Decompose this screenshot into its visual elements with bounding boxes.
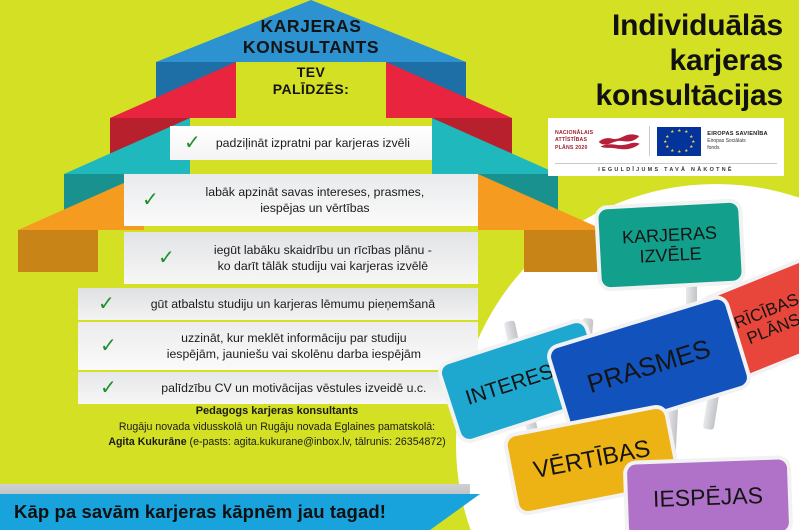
step-text: labāk apzināt savas intereses, prasmes,i… <box>164 184 466 217</box>
contact-person-line: Agita Kukurāne (e-pasts: agita.kukurane@… <box>88 435 466 450</box>
page-title-line-1: Individuālās <box>453 8 783 43</box>
step-panel-4: ✓gūt atbalstu studiju un karjeras lēmumu… <box>78 288 478 320</box>
step-text: iegūt labāku skaidrību un rīcības plānu … <box>180 242 466 275</box>
step-text: padziļināt izpratni par karjeras izvēli <box>206 135 420 151</box>
checkmark-icon: ✓ <box>100 377 117 397</box>
signpost-label: PRASMES <box>584 334 714 399</box>
page-title: Individuālās karjeras konsultācijas <box>453 8 783 113</box>
step-text: uzzināt, kur meklēt informāciju par stud… <box>122 330 466 363</box>
checkmark-icon: ✓ <box>100 335 117 355</box>
logo-footer-slogan: IEGULDĪJUMS TAVĀ NĀKOTNĒ <box>555 163 777 173</box>
poster-canvas: ✓padziļināt izpratni par karjeras izvēli… <box>0 0 799 530</box>
signpost-label: RĪCĪBASPLĀNS <box>731 290 799 351</box>
signpost-label: KARJERASIZVĒLE <box>621 222 718 267</box>
step-panel-3: ✓iegūt labāku skaidrību un rīcības plānu… <box>124 232 478 284</box>
contact-details: (e-pasts: agita.kukurane@inbox.lv, tālru… <box>187 436 446 448</box>
nap-logo: NACIONĀLAISATTĪSTĪBASPLĀNS 2020 <box>555 128 642 154</box>
checkmark-icon: ✓ <box>158 247 175 267</box>
signpost-label: IESPĒJAS <box>653 483 764 513</box>
contact-person-name: Agita Kukurāne <box>108 436 186 448</box>
page-title-line-2: karjeras <box>453 43 783 78</box>
contact-block: Pedagogs karjeras konsultants Rugāju nov… <box>88 404 466 451</box>
latvia-map-icon <box>596 128 642 154</box>
logo-divider <box>649 126 650 156</box>
checkmark-icon: ✓ <box>98 293 115 313</box>
signpost-iespejas[interactable]: IESPĒJAS <box>627 459 789 530</box>
contact-schools: Rugāju novada vidusskolā un Rugāju novad… <box>88 420 466 435</box>
step-panel-2: ✓labāk apzināt savas intereses, prasmes,… <box>124 174 478 226</box>
signpost-cluster: KARJERASIZVĒLE RĪCĪBASPLĀNS INTERESES PR… <box>440 190 799 530</box>
pyramid-heading: KARJERASKONSULTANTS TEVPALĪDZĒS: <box>156 16 466 98</box>
step-text: gūt atbalstu studiju un karjeras lēmumu … <box>120 296 466 312</box>
page-title-line-3: konsultācijas <box>453 78 783 113</box>
step-panel-1: ✓padziļināt izpratni par karjeras izvēli <box>170 126 432 160</box>
step-text: palīdzību CV un motivācijas vēstules izv… <box>122 380 466 396</box>
funding-logo-strip: NACIONĀLAISATTĪSTĪBASPLĀNS 2020 ★ ★ ★ ★ … <box>548 118 784 176</box>
step-panel-5: ✓uzzināt, kur meklēt informāciju par stu… <box>78 322 478 370</box>
eu-subtitle: Eiropas Sociālaisfonds <box>707 138 768 152</box>
pyramid-subtitle: TEVPALĪDZĒS: <box>156 64 466 98</box>
eu-logo-caption: EIROPAS SAVIENĪBA Eiropas Sociālaisfonds <box>707 131 768 152</box>
call-to-action-text: Kāp pa savām karjeras kāpnēm jau tagad! <box>14 501 386 523</box>
checkmark-icon: ✓ <box>142 189 159 209</box>
call-to-action-banner: Kāp pa savām karjeras kāpnēm jau tagad! <box>0 494 480 530</box>
pyramid-title: KARJERASKONSULTANTS <box>156 16 466 57</box>
nap-logo-text: NACIONĀLAISATTĪSTĪBASPLĀNS 2020 <box>555 130 593 153</box>
eu-flag-icon: ★ ★ ★ ★ ★ ★ ★ ★ ★ ★ ★ ★ <box>657 127 701 156</box>
signpost-karjeras-izvele[interactable]: KARJERASIZVĒLE <box>598 202 742 287</box>
checkmark-icon: ✓ <box>184 132 201 152</box>
contact-role: Pedagogs karjeras konsultants <box>88 404 466 420</box>
step-orange-front-left <box>18 230 98 272</box>
step-panel-6: ✓palīdzību CV un motivācijas vēstules iz… <box>78 372 478 404</box>
eu-title: EIROPAS SAVIENĪBA <box>707 131 768 137</box>
